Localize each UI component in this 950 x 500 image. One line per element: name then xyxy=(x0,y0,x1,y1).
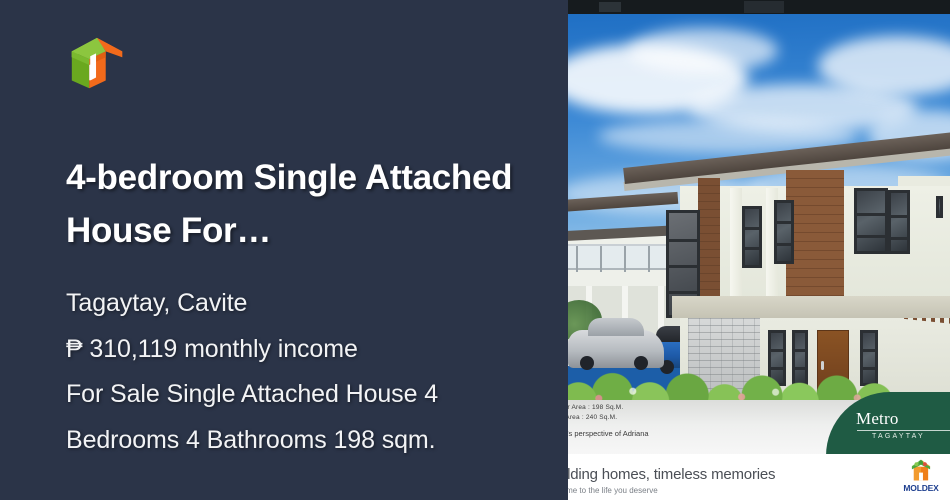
mid-facade-band xyxy=(672,296,950,318)
moldex-mark-icon xyxy=(908,458,934,482)
upper-window xyxy=(742,206,762,268)
corner-window xyxy=(854,188,888,254)
house-logo-icon[interactable] xyxy=(66,32,128,94)
listing-price: ₱ 310,119 monthly income xyxy=(66,327,518,373)
developer-name: Metro xyxy=(856,409,899,429)
slit-window xyxy=(936,196,943,218)
photo-bottom-banner: Building homes, timeless memories Welcom… xyxy=(568,454,950,500)
upper-window xyxy=(774,200,794,264)
perspective-note-text: Artist's perspective of Adriana xyxy=(568,429,649,438)
wood-cladding-left xyxy=(698,178,720,304)
listing-info-panel: 4-bedroom Single Attached House For… Tag… xyxy=(0,0,568,500)
listing-description: For Sale Single Attached House 4 Bedroom… xyxy=(66,372,518,463)
lot-area-text: Lot Area : 240 Sq.M. xyxy=(568,413,623,423)
banner-subtagline: Welcome to the life you deserve xyxy=(568,486,658,495)
floor-area-text: Floor Area : 198 Sq.M. xyxy=(568,403,623,413)
developer-location: TAGAYTAY xyxy=(872,433,925,440)
listing-location: Tagaytay, Cavite xyxy=(66,281,518,327)
photo-top-letterbox xyxy=(568,0,950,14)
moldex-logo: MOLDEX xyxy=(900,458,942,498)
property-photo[interactable]: Floor Area : 198 Sq.M. Lot Area : 240 Sq… xyxy=(568,0,950,500)
corner-window-side xyxy=(888,190,910,254)
moldex-wordmark: MOLDEX xyxy=(900,483,942,493)
listing-title: 4-bedroom Single Attached House For… xyxy=(66,152,518,257)
cloud-shape xyxy=(628,28,778,73)
facade-pillar xyxy=(730,188,742,300)
wood-cladding-center xyxy=(786,170,844,298)
banner-tagline: Building homes, timeless memories xyxy=(568,466,775,483)
listing-details: Tagaytay, Cavite ₱ 310,119 monthly incom… xyxy=(66,281,518,463)
silver-suv xyxy=(568,330,664,368)
area-spec-text: Floor Area : 198 Sq.M. Lot Area : 240 Sq… xyxy=(568,403,623,423)
badge-divider xyxy=(857,430,950,431)
property-listing-card: 4-bedroom Single Attached House For… Tag… xyxy=(0,0,950,500)
